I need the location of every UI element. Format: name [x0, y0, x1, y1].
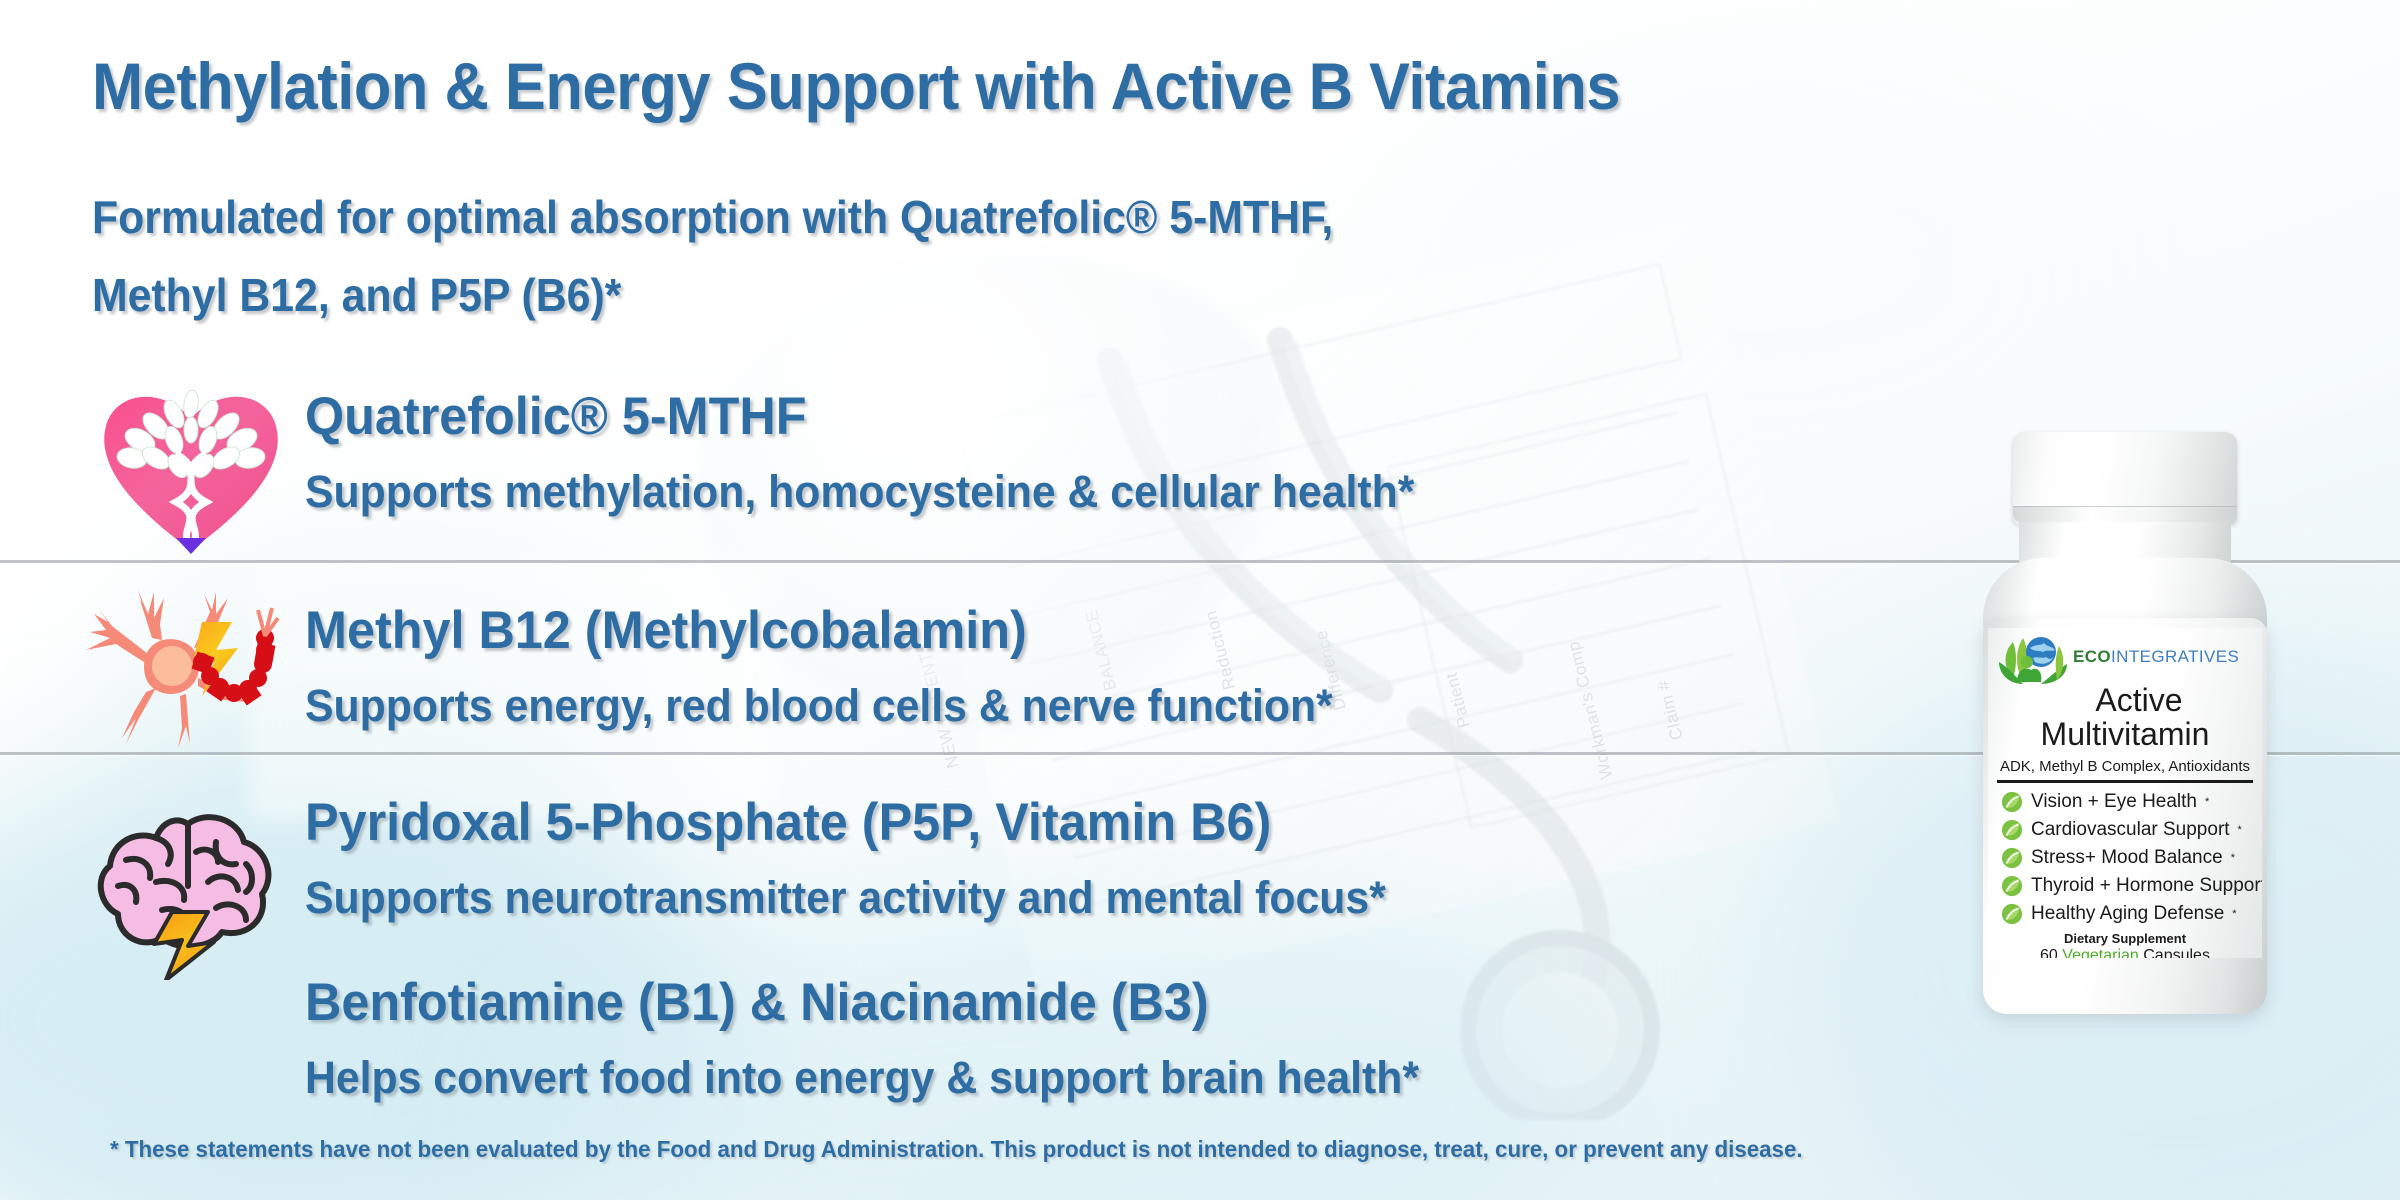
leaf-bullet-icon: [2001, 847, 2023, 869]
leaf-bullet-icon: [2001, 903, 2023, 925]
leaf-bullet-icon: [2001, 819, 2023, 841]
brand-name-integratives: INTEGRATIVES: [2111, 647, 2239, 666]
subtitle-line-1: Formulated for optimal absorption with Q…: [92, 190, 1333, 244]
capsule-unit-label: Capsules: [2143, 947, 2210, 958]
label-benefit-item: Thyroid + Hormone Support*: [2001, 875, 2255, 897]
asterisk: *: [2238, 824, 2242, 836]
supplement-type: Dietary Supplement: [1995, 931, 2255, 946]
heart-dna-tree-icon: [96, 378, 286, 558]
capsule-count: 60 Vegetarian Capsules: [1995, 947, 2255, 958]
label-divider: [1997, 780, 2253, 783]
label-benefit-text: Vision + Eye Health: [2031, 791, 2197, 813]
subtitle-line-2: Methyl B12, and P5P (B6)*: [92, 268, 621, 322]
product-descriptor: ADK, Methyl B Complex, Antioxidants: [1995, 758, 2255, 775]
brain-lightning-icon: [96, 790, 286, 980]
benefit-description-1: Supports methylation, homocysteine & cel…: [305, 466, 1414, 518]
benefit-heading-4: Benfotiamine (B1) & Niacinamide (B3): [305, 972, 1209, 1033]
leaf-bullet-icon: [2001, 875, 2023, 897]
asterisk: *: [2231, 852, 2235, 864]
brand-name-eco: ECO: [2073, 647, 2111, 666]
benefit-heading-2: Methyl B12 (Methylcobalamin): [305, 600, 1027, 661]
bottle-label: ECOINTEGRATIVES Active Multivitamin ADK,…: [1988, 628, 2262, 958]
leaf-bullet-icon: [2001, 791, 2023, 813]
bottle-cap-ring: [2013, 506, 2237, 522]
label-benefit-item: Vision + Eye Health*: [2001, 791, 2255, 813]
asterisk: *: [2232, 908, 2236, 920]
ecointegratives-logo-icon: [1997, 634, 2069, 690]
fda-disclaimer: * These statements have not been evaluat…: [110, 1136, 1803, 1163]
label-benefit-item: Healthy Aging Defense*: [2001, 903, 2255, 925]
label-benefit-item: Cardiovascular Support*: [2001, 819, 2255, 841]
label-benefit-text: Thyroid + Hormone Support: [2031, 875, 2262, 897]
capsule-vegetarian-label: Vegetarian: [2062, 947, 2139, 958]
product-bottle: ECOINTEGRATIVES Active Multivitamin ADK,…: [1975, 432, 2275, 1022]
neuron-lightning-blood-icon: [82, 588, 282, 748]
benefit-description-4: Helps convert food into energy & support…: [305, 1052, 1419, 1104]
benefit-description-2: Supports energy, red blood cells & nerve…: [305, 680, 1333, 732]
label-benefit-text: Stress+ Mood Balance: [2031, 847, 2223, 869]
product-name-line-2: Multivitamin: [1995, 718, 2255, 752]
benefit-heading-3: Pyridoxal 5-Phosphate (P5P, Vitamin B6): [305, 792, 1271, 853]
label-benefit-item: Stress+ Mood Balance*: [2001, 847, 2255, 869]
benefit-description-3: Supports neurotransmitter activity and m…: [305, 872, 1386, 924]
benefit-heading-1: Quatrefolic® 5-MTHF: [305, 386, 806, 447]
label-benefit-text: Cardiovascular Support: [2031, 819, 2230, 841]
label-benefit-text: Healthy Aging Defense: [2031, 903, 2224, 925]
page-title: Methylation & Energy Support with Active…: [92, 48, 1620, 124]
brand-name: ECOINTEGRATIVES: [2073, 647, 2239, 667]
capsule-count-number: 60: [2040, 947, 2058, 958]
asterisk: *: [2205, 796, 2209, 808]
